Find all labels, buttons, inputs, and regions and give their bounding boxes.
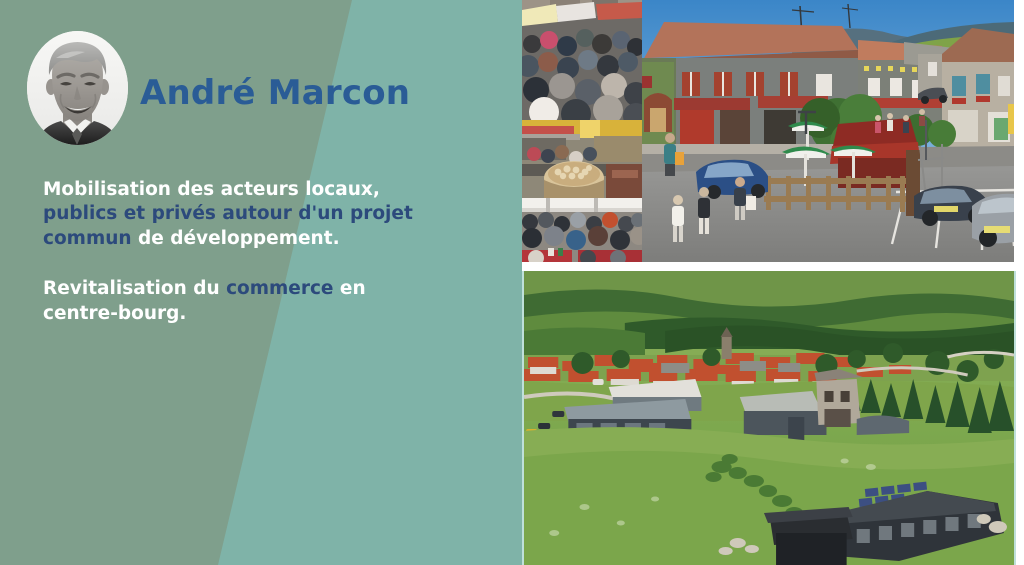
market-crowd-bottom-photo [522,198,642,262]
village-street-icon [642,0,1014,262]
speaker-statement: Mobilisation des acteurs locaux, publics… [43,178,443,326]
statement-paragraph-2: Revitalisation du commerce en centre-bou… [43,277,443,326]
photo-group-top [522,0,1014,262]
market-crowd-top-icon [522,0,642,120]
photo-collage [522,0,1024,565]
market-photo-column [522,0,642,262]
statement-paragraph-1: Mobilisation des acteurs locaux, publics… [43,178,443,251]
market-crowd-top-photo [522,0,642,120]
village-aerial-photo [522,271,1016,565]
village-aerial-icon [524,271,1014,565]
slide-root: André Marcon Mobilisation des acteurs lo… [0,0,1024,565]
portrait-photo-icon [27,31,128,145]
left-content-panel: André Marcon Mobilisation des acteurs lo… [0,0,522,565]
statement-run-1a: Mobilisation des acteurs locaux, [43,179,380,200]
village-street-photo [642,0,1014,262]
statement-run-1c: de développement. [138,228,340,249]
statement-run-2a: Revitalisation du [43,278,226,299]
speaker-name: André Marcon [140,75,410,112]
market-stalls-middle-photo [522,120,642,198]
speaker-avatar [27,31,128,145]
market-crowd-bottom-icon [522,198,642,262]
market-stalls-middle-icon [522,120,642,198]
statement-run-2b: commerce [226,278,333,299]
